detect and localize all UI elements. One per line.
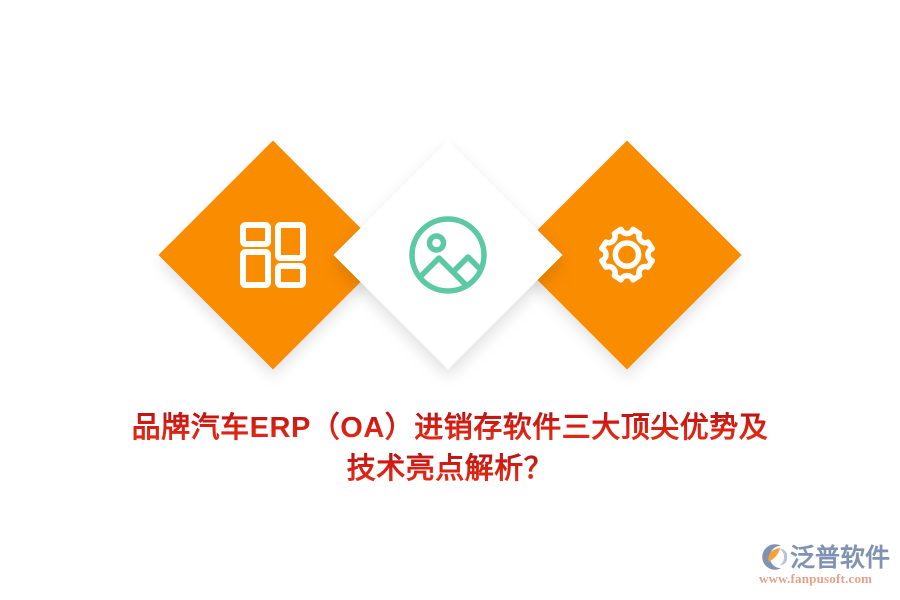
brand-logo-name: 泛普软件 xyxy=(790,544,890,571)
page-title-line-2: 技术亮点解析？ xyxy=(0,449,900,490)
image-picture-icon xyxy=(406,213,490,297)
diamond-icon-row xyxy=(0,0,900,230)
page-title-line-1: 品牌汽车ERP（OA）进销存软件三大顶尖优势及 xyxy=(0,408,900,449)
brand-logo[interactable]: 泛普软件 www.fanpusoft.com xyxy=(757,541,893,589)
grid-layout-icon xyxy=(237,219,309,291)
page-title: 品牌汽车ERP（OA）进销存软件三大顶尖优势及 技术亮点解析？ xyxy=(0,408,900,490)
diamond-card-image[interactable] xyxy=(333,140,562,369)
brand-logo-top: 泛普软件 xyxy=(757,541,890,573)
diamond-icon-wrap-3 xyxy=(546,174,708,336)
diamond-icon-wrap-2 xyxy=(367,174,529,336)
gear-settings-icon xyxy=(587,215,667,295)
diamond-icon-wrap-1 xyxy=(192,174,354,336)
page-canvas: 品牌汽车ERP（OA）进销存软件三大顶尖优势及 技术亮点解析？ 泛普软件 www… xyxy=(0,0,900,600)
fanpu-circular-swoosh-logo-icon xyxy=(757,542,787,572)
brand-logo-url: www.fanpusoft.com xyxy=(759,571,872,586)
